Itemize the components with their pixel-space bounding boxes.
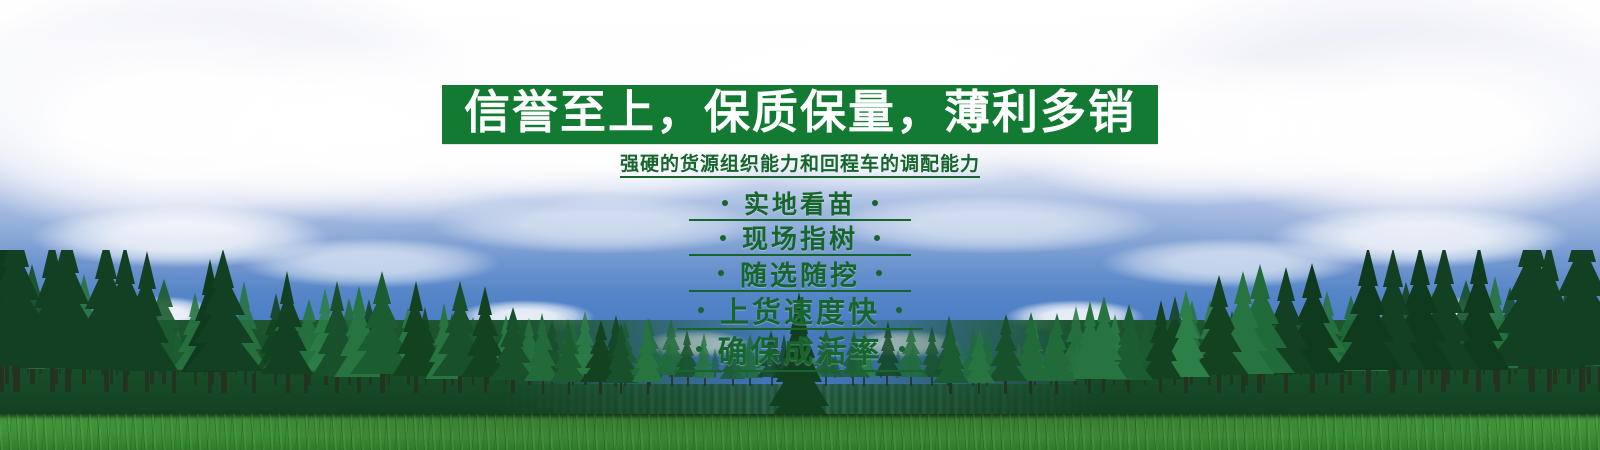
bullet-dot-icon	[896, 307, 902, 313]
bullet-dot-icon	[696, 346, 702, 352]
soil-mound	[1270, 418, 1314, 429]
feature-label: 实地看苗	[744, 185, 856, 221]
feature-item: 实地看苗	[0, 186, 1600, 220]
feature-label: 确保成活率	[718, 327, 883, 371]
promo-banner: 信誉至上，保质保量，薄利多销 强硬的货源组织能力和回程车的调配能力 实地看苗 现…	[0, 0, 1600, 450]
crop-field	[0, 414, 1600, 450]
banner-content: 信誉至上，保质保量，薄利多销 强硬的货源组织能力和回程车的调配能力 实地看苗 现…	[0, 0, 1600, 369]
bullet-dot-icon	[698, 307, 704, 313]
bullet-dot-icon	[720, 235, 726, 241]
bullet-dot-icon	[876, 270, 882, 276]
subtitle-text: 强硬的货源组织能力和回程车的调配能力	[620, 153, 980, 178]
feature-label: 现场指树	[742, 219, 858, 256]
feature-list: 实地看苗 现场指树 随选随挖 上货速度快	[0, 186, 1600, 369]
soil-mound	[286, 418, 330, 429]
bullet-dot-icon	[718, 270, 724, 276]
headline-text: 信誉至上，保质保量，薄利多销	[464, 88, 1136, 136]
feature-item: 上货速度快	[0, 291, 1600, 329]
feature-label: 随选随挖	[740, 254, 860, 293]
feature-divider	[674, 370, 926, 372]
feature-label: 上货速度快	[720, 289, 880, 331]
feature-item: 随选随挖	[0, 255, 1600, 291]
bullet-dot-icon	[899, 346, 905, 352]
feature-item: 确保成活率	[0, 329, 1600, 369]
headline-banner: 信誉至上，保质保量，薄利多销	[442, 85, 1158, 144]
bullet-dot-icon	[872, 200, 878, 206]
bullet-dot-icon	[874, 235, 880, 241]
feature-item: 现场指树	[0, 220, 1600, 255]
bullet-dot-icon	[722, 200, 728, 206]
field-shading	[0, 414, 1600, 450]
